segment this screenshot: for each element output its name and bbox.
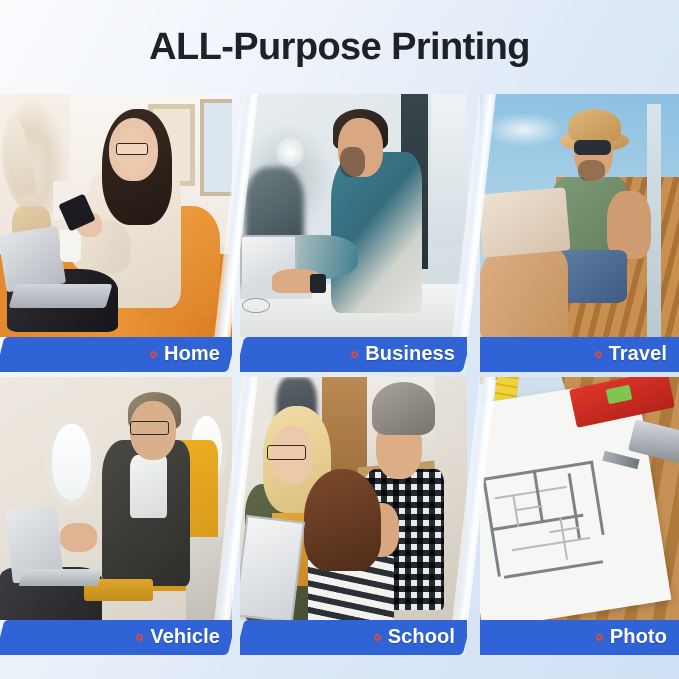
- panel-home[interactable]: Home: [0, 94, 232, 372]
- circle-outline-icon: [596, 634, 603, 641]
- panel-label-photo-text: Photo: [610, 626, 667, 649]
- panel-label-home-text: Home: [164, 343, 220, 366]
- page-title: ALL-Purpose Printing: [149, 26, 530, 69]
- panel-travel[interactable]: Travel: [480, 94, 679, 372]
- panel-school-photo: [240, 377, 467, 620]
- panel-label-home[interactable]: Home: [0, 337, 232, 372]
- circle-outline-icon: [595, 351, 602, 358]
- panel-vehicle[interactable]: Vehicle: [0, 377, 232, 655]
- panel-travel-photo: [480, 94, 679, 337]
- panel-label-vehicle[interactable]: Vehicle: [0, 620, 232, 655]
- panel-label-business[interactable]: Business: [240, 337, 467, 372]
- panel-label-business-text: Business: [365, 343, 455, 366]
- panel-label-photo[interactable]: Photo: [480, 620, 679, 655]
- circle-outline-icon: [374, 634, 381, 641]
- panel-vehicle-photo: [0, 377, 232, 620]
- panel-home-photo: [0, 94, 232, 337]
- panel-photo-photo: [480, 377, 679, 620]
- panel-business-photo: [240, 94, 467, 337]
- panel-row-bottom: Vehicle: [0, 377, 679, 655]
- panel-label-school[interactable]: School: [240, 620, 467, 655]
- panel-photo[interactable]: Photo: [480, 377, 679, 655]
- panel-row-top: Home: [0, 94, 679, 372]
- panel-label-travel[interactable]: Travel: [480, 337, 679, 372]
- circle-outline-icon: [150, 351, 157, 358]
- panel-label-vehicle-text: Vehicle: [150, 626, 220, 649]
- panel-label-school-text: School: [388, 626, 455, 649]
- page-header: ALL-Purpose Printing: [0, 0, 679, 94]
- promo-page: ALL-Purpose Printing: [0, 0, 679, 679]
- panel-business[interactable]: Business: [240, 94, 467, 372]
- panel-school[interactable]: School: [240, 377, 467, 655]
- panel-label-travel-text: Travel: [609, 343, 667, 366]
